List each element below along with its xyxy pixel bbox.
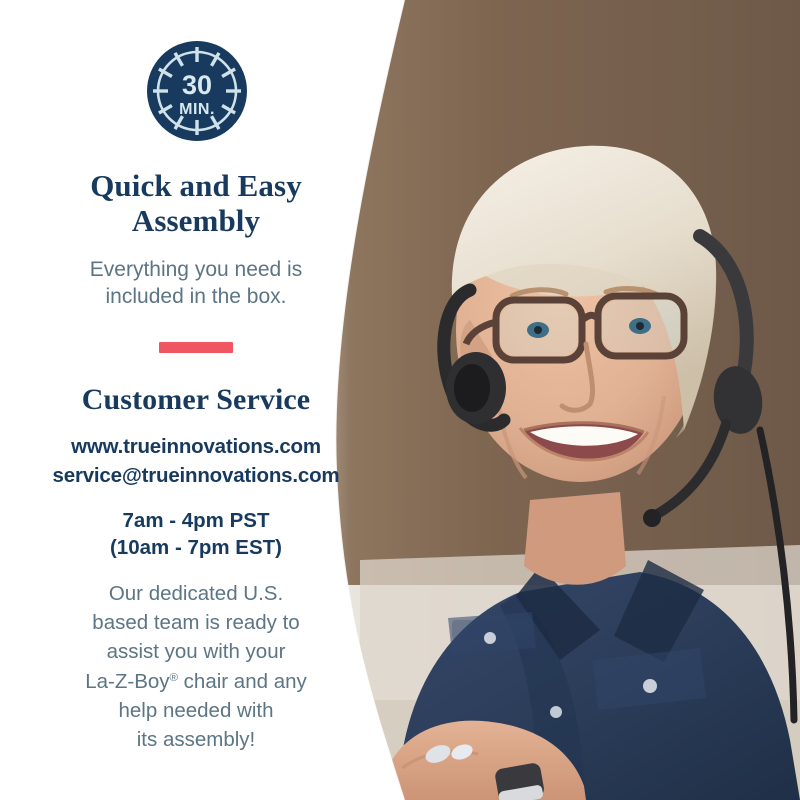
badge-value: 30: [182, 70, 212, 100]
brand-name: La-Z-Boy: [85, 670, 169, 693]
closing-line-3: assist you with your: [51, 637, 341, 666]
assembly-heading-line1: Quick and Easy: [46, 168, 346, 203]
service-hours: 7am - 4pm PST (10am - 7pm EST): [26, 507, 366, 563]
red-divider: [159, 342, 233, 353]
closing-line-1: Our dedicated U.S.: [51, 579, 341, 608]
assembly-heading-line2: Assembly: [46, 203, 346, 238]
content-column: 30 MIN. Quick and Easy Assembly Everythi…: [0, 0, 392, 800]
website-link[interactable]: www.trueinnovations.com: [11, 432, 381, 461]
assembly-body: Everything you need is included in the b…: [46, 256, 346, 311]
registered-trademark-icon: ®: [170, 671, 178, 683]
promo-card: 30 MIN. Quick and Easy Assembly Everythi…: [0, 0, 800, 800]
closing-line-4: La-Z-Boy® chair and any: [51, 667, 341, 696]
contact-details: www.trueinnovations.com service@trueinno…: [11, 432, 381, 490]
assembly-body-line1: Everything you need is: [46, 256, 346, 284]
badge-unit: MIN.: [179, 101, 215, 118]
hours-primary: 7am - 4pm PST: [26, 507, 366, 535]
assembly-heading: Quick and Easy Assembly: [46, 168, 346, 239]
closing-line-4-tail: chair and any: [178, 670, 307, 693]
stopwatch-glyph: 30 MIN.: [144, 38, 250, 144]
assembly-body-line2: included in the box.: [46, 283, 346, 311]
closing-paragraph: Our dedicated U.S. based team is ready t…: [51, 579, 341, 754]
closing-line-5: help needed with: [51, 696, 341, 725]
stopwatch-icon: 30 MIN.: [144, 38, 250, 144]
closing-line-6: its assembly!: [51, 725, 341, 754]
hours-secondary: (10am - 7pm EST): [26, 534, 366, 562]
service-heading: Customer Service: [26, 383, 366, 417]
closing-line-2: based team is ready to: [51, 608, 341, 637]
email-link[interactable]: service@trueinnovations.com: [11, 461, 381, 490]
